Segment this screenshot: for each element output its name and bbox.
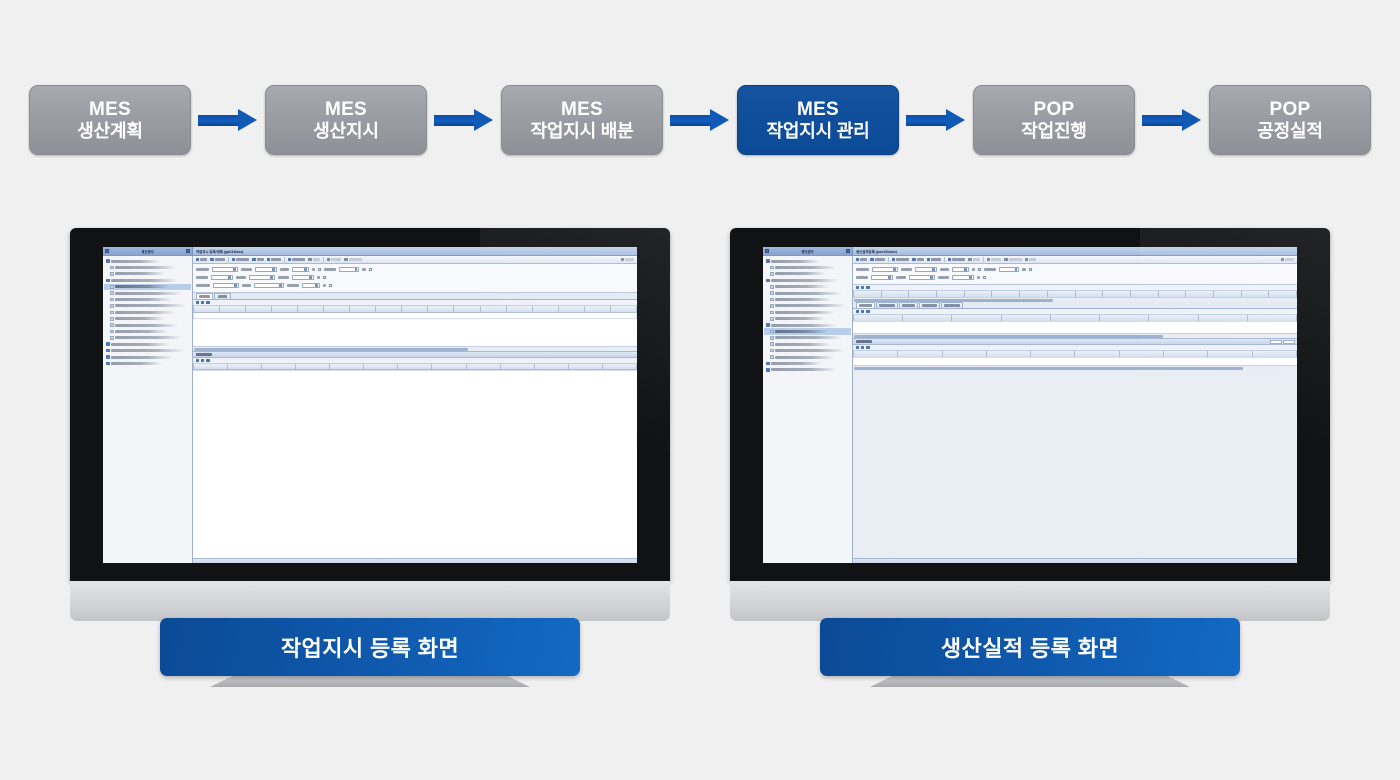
tab-label	[199, 295, 209, 298]
flow-step-3[interactable]: MES작업지시 배분	[501, 85, 663, 155]
filter-label	[972, 268, 975, 271]
filter-icon[interactable]	[866, 286, 869, 289]
chevron-down-icon[interactable]	[309, 276, 312, 279]
toolbar-button-label	[236, 258, 249, 261]
filter-label	[940, 268, 949, 271]
filter-input[interactable]	[915, 267, 937, 272]
tree-item-label	[115, 324, 178, 327]
chevron-down-icon[interactable]	[1015, 268, 1018, 271]
new-icon	[870, 258, 873, 261]
document-icon	[110, 298, 114, 302]
filter-row-1	[196, 266, 634, 273]
tree-item-label	[115, 298, 172, 301]
folder-icon	[106, 259, 110, 263]
filter-row-2	[856, 274, 1294, 281]
toolbar-button-3[interactable]	[891, 258, 910, 261]
chevron-down-icon[interactable]	[270, 276, 273, 279]
status-bar	[853, 558, 1297, 563]
tree-item-label	[771, 279, 838, 282]
toolbar-separator	[323, 257, 324, 262]
save-icon	[912, 258, 915, 261]
section-input[interactable]	[1270, 340, 1282, 344]
monitor-chin	[730, 581, 1330, 621]
toolbar-overflow[interactable]	[620, 258, 635, 261]
toolbar-button-label	[917, 258, 924, 261]
toolbar-button-label	[215, 258, 225, 261]
toolbar-separator	[228, 257, 229, 262]
toolbar-button-1[interactable]	[195, 258, 208, 261]
grid-settings-icon[interactable]	[861, 286, 864, 289]
tree-item-label	[115, 311, 175, 314]
toolbar-button-label	[271, 258, 281, 261]
navigation-tree[interactable]	[763, 256, 853, 563]
document-icon	[110, 336, 114, 340]
toolbar-overflow[interactable]	[1280, 258, 1295, 261]
filter-row-3	[196, 282, 634, 289]
toolbar-button-label	[896, 258, 909, 261]
panel-pin-icon[interactable]	[846, 249, 850, 253]
new-icon	[210, 258, 213, 261]
flow-step-line2: 생산계획	[77, 121, 142, 141]
export-excel-icon[interactable]	[856, 286, 859, 289]
filter-input[interactable]	[254, 283, 284, 288]
chevron-down-icon[interactable]	[355, 268, 358, 271]
chevron-down-icon[interactable]	[315, 284, 318, 287]
flow-step-line1: POP	[1269, 99, 1310, 120]
toolbar-button-label	[973, 258, 980, 261]
document-title: 생산실적등록 (pmr100ulsx)	[853, 247, 1297, 255]
tree-item-label	[775, 292, 842, 295]
chevron-down-icon[interactable]	[228, 276, 231, 279]
document-icon	[770, 349, 774, 353]
search-icon	[196, 258, 199, 261]
app-body	[763, 256, 1297, 563]
toolbar-button-1[interactable]	[855, 258, 868, 261]
filter-label	[896, 276, 906, 279]
tree-item-label	[115, 272, 165, 275]
toolbar-button-4[interactable]	[251, 258, 264, 261]
filter-checkbox[interactable]	[983, 276, 986, 279]
panel-pin-icon[interactable]	[186, 249, 190, 253]
export-icon	[344, 258, 347, 261]
toolbar-button-label	[331, 258, 341, 261]
toolbar-button-label	[860, 258, 867, 261]
tab-strip[interactable]	[193, 293, 637, 300]
document-icon	[110, 291, 114, 295]
filter-label	[196, 276, 208, 279]
nav-title-text: 생산관리	[771, 249, 844, 254]
filter-icon[interactable]	[866, 346, 869, 349]
filter-input[interactable]	[255, 267, 277, 272]
filter-label	[856, 268, 869, 271]
tree-item-label	[111, 343, 170, 346]
toolbar-button-label	[349, 258, 362, 261]
grid-empty-area	[193, 370, 637, 558]
app-toolbar[interactable]	[193, 256, 637, 264]
flow-step-line2: 생산지시	[313, 121, 378, 141]
folder-icon	[106, 349, 110, 353]
filter-label	[241, 268, 252, 271]
tab-3[interactable]	[899, 302, 918, 308]
grid-settings-icon[interactable]	[861, 310, 864, 313]
copy-icon	[308, 258, 311, 261]
section-title	[856, 340, 872, 343]
chevron-down-icon[interactable]	[888, 276, 891, 279]
flow-step-line1: POP	[1033, 99, 1074, 120]
flow-step-line2: 공정실적	[1257, 121, 1322, 141]
tree-item-label	[115, 304, 185, 307]
toolbar-button-3[interactable]	[231, 258, 250, 261]
toolbar-button-8[interactable]	[326, 258, 342, 261]
chevron-down-icon[interactable]	[279, 284, 282, 287]
print-icon	[927, 258, 930, 261]
grid-empty-area	[853, 357, 1297, 365]
copy-icon	[968, 258, 971, 261]
tab-2[interactable]	[876, 302, 898, 308]
tree-item-label	[771, 324, 837, 327]
filter-checkbox[interactable]	[978, 268, 981, 271]
filter-label	[236, 276, 246, 279]
tree-item-18[interactable]	[764, 367, 851, 373]
flow-arrow-icon	[666, 109, 734, 131]
chevron-down-icon[interactable]	[893, 268, 896, 271]
close-icon	[1281, 258, 1284, 261]
tree-item-label	[775, 349, 845, 352]
toolbar-button-6[interactable]	[287, 258, 306, 261]
chevron-down-icon[interactable]	[969, 276, 972, 279]
tree-item-label	[115, 292, 182, 295]
tab-4[interactable]	[919, 302, 941, 308]
toolbar-button-4[interactable]	[911, 258, 924, 261]
toolbar-button-5[interactable]	[926, 258, 942, 261]
filter-label	[984, 268, 996, 271]
filter-label	[362, 268, 366, 271]
document-icon	[770, 311, 774, 315]
toolbar-button-7[interactable]	[967, 258, 980, 261]
window-titlebar: 생산관리생산실적등록 (pmr100ulsx)	[763, 247, 1297, 256]
filter-label	[901, 268, 912, 271]
filter-label	[323, 284, 326, 287]
filter-input[interactable]	[249, 275, 275, 280]
filter-input[interactable]	[872, 267, 898, 272]
process-flow-diagram: MES생산계획MES생산지시MES작업지시 배분MES작업지시 관리POP작업진…	[0, 84, 1400, 156]
section-actions[interactable]	[1270, 340, 1297, 344]
document-icon	[110, 317, 114, 321]
filter-input[interactable]	[211, 275, 233, 280]
toolbar-button-label	[952, 258, 965, 261]
filter-label	[196, 268, 209, 271]
flow-arrow-icon	[430, 109, 498, 131]
tree-item-label	[115, 330, 168, 333]
tree-item-label	[115, 317, 164, 320]
toolbar-button-label	[625, 258, 634, 261]
filter-icon[interactable]	[206, 359, 209, 362]
document-icon	[770, 336, 774, 340]
tree-item-label	[775, 298, 832, 301]
toolbar-button-10[interactable]	[1024, 258, 1037, 261]
refresh-icon	[987, 258, 990, 261]
export-icon	[1004, 258, 1007, 261]
flow-step-1[interactable]: MES생산계획	[29, 85, 191, 155]
filter-label	[938, 276, 949, 279]
tree-item-label	[775, 266, 836, 269]
tab-1[interactable]	[856, 302, 875, 308]
tree-item-label	[111, 279, 178, 282]
toolbar-button-label	[991, 258, 1001, 261]
document-icon	[110, 311, 114, 315]
window-titlebar: 생산관리작업지시 등록/계획 (ppl115ulsx)	[103, 247, 637, 256]
app-screen[interactable]: 생산관리작업지시 등록/계획 (ppl115ulsx)	[103, 247, 637, 563]
grid-empty-area	[853, 321, 1297, 333]
tree-item-label	[775, 343, 831, 346]
filter-checkbox[interactable]	[1029, 268, 1032, 271]
tree-item-label	[771, 368, 836, 371]
toolbar-button-6[interactable]	[947, 258, 966, 261]
refresh-icon	[327, 258, 330, 261]
status-bar	[193, 558, 637, 563]
module-icon	[105, 249, 109, 253]
document-icon	[770, 266, 774, 270]
tree-item-label	[775, 317, 824, 320]
filter-label	[977, 276, 980, 279]
toolbar-button-label	[1285, 258, 1294, 261]
toolbar-button-9[interactable]	[1003, 258, 1022, 261]
delete-icon	[948, 258, 951, 261]
monitor-left: 생산관리작업지시 등록/계획 (ppl115ulsx) 작업지시 등록 화면	[70, 228, 670, 618]
filter-input[interactable]	[292, 267, 309, 272]
tab-1[interactable]	[196, 293, 213, 299]
tab-label	[879, 304, 895, 307]
document-icon	[110, 272, 114, 276]
toolbar-separator	[284, 257, 285, 262]
toolbar-separator	[888, 257, 889, 262]
grid-settings-icon[interactable]	[861, 346, 864, 349]
document-icon	[110, 266, 114, 270]
chevron-down-icon[interactable]	[964, 268, 967, 271]
export-excel-icon[interactable]	[856, 310, 859, 313]
chevron-down-icon[interactable]	[930, 276, 933, 279]
flow-arrow-icon	[194, 109, 262, 131]
monitor-caption: 작업지시 등록 화면	[160, 618, 580, 676]
tree-item-label	[115, 336, 181, 339]
monitor-right: 생산관리생산실적등록 (pmr100ulsx) 생산실적 등록 화면	[730, 228, 1330, 618]
flow-step-line2: 작업진행	[1021, 121, 1086, 141]
chevron-down-icon[interactable]	[272, 268, 275, 271]
flow-step-line2: 작업지시 배분	[531, 121, 634, 141]
chevron-down-icon[interactable]	[234, 284, 237, 287]
flow-step-2[interactable]: MES생산지시	[265, 85, 427, 155]
tab-label	[902, 304, 915, 307]
export-excel-icon[interactable]	[196, 359, 199, 362]
toolbar-button-label	[292, 258, 305, 261]
toolbar-button-label	[200, 258, 207, 261]
tree-item-label	[775, 272, 825, 275]
data-grid[interactable]	[193, 306, 637, 318]
close-icon	[621, 258, 624, 261]
toolbar-button-5[interactable]	[266, 258, 282, 261]
filter-input[interactable]	[909, 275, 935, 280]
filter-row-2	[196, 274, 634, 281]
toolbar-separator	[983, 257, 984, 262]
flow-step-5[interactable]: POP작업진행	[973, 85, 1135, 155]
filter-label	[196, 284, 210, 287]
app-toolbar[interactable]	[853, 256, 1297, 264]
filter-input[interactable]	[292, 275, 314, 280]
filter-icon[interactable]	[206, 301, 209, 304]
tab-label	[922, 304, 938, 307]
tree-item-label	[111, 356, 173, 359]
search-filter-panel[interactable]	[193, 264, 637, 293]
nav-panel-title: 생산관리	[103, 247, 193, 255]
close-icon	[1025, 258, 1028, 261]
grid-settings-icon[interactable]	[201, 301, 204, 304]
tab-strip[interactable]	[853, 302, 1297, 309]
tab-5[interactable]	[941, 302, 963, 308]
folder-icon	[106, 362, 110, 366]
flow-step-line1: MES	[325, 99, 367, 120]
flow-arrow-icon	[902, 109, 970, 131]
flow-step-line2: 작업지시 관리	[767, 121, 870, 141]
toolbar-button-label	[1009, 258, 1022, 261]
filter-input[interactable]	[952, 267, 969, 272]
section-input[interactable]	[1283, 340, 1295, 344]
tree-item-label	[775, 285, 828, 288]
search-filter-panel[interactable]	[853, 264, 1297, 285]
filter-label	[1022, 268, 1026, 271]
tree-item-label	[775, 304, 845, 307]
folder-icon	[766, 362, 770, 366]
document-icon	[770, 355, 774, 359]
grid-empty-area	[193, 318, 637, 346]
flow-step-4[interactable]: MES작업지시 관리	[737, 85, 899, 155]
print-icon	[267, 258, 270, 261]
tree-item-17[interactable]	[104, 360, 191, 366]
app-screen[interactable]: 생산관리생산실적등록 (pmr100ulsx)	[763, 247, 1297, 563]
document-icon	[110, 323, 114, 327]
chevron-down-icon[interactable]	[932, 268, 935, 271]
folder-icon	[106, 279, 110, 283]
filter-input[interactable]	[871, 275, 893, 280]
flow-step-6[interactable]: POP공정실적	[1209, 85, 1371, 155]
filter-checkbox[interactable]	[369, 268, 372, 271]
document-icon	[770, 291, 774, 295]
flow-arrow-icon	[1138, 109, 1206, 131]
filter-checkbox[interactable]	[318, 268, 321, 271]
tab-2[interactable]	[214, 293, 231, 299]
filter-input[interactable]	[999, 267, 1019, 272]
folder-icon	[106, 355, 110, 359]
chevron-down-icon[interactable]	[304, 268, 307, 271]
filter-input[interactable]	[952, 275, 974, 280]
export-excel-icon[interactable]	[856, 346, 859, 349]
folder-icon	[766, 259, 770, 263]
monitor-bezel: 생산관리작업지시 등록/계획 (ppl115ulsx)	[70, 228, 670, 581]
tree-item-label	[115, 266, 176, 269]
toolbar-button-8[interactable]	[986, 258, 1002, 261]
tree-item-label	[775, 336, 841, 339]
flow-step-line1: MES	[797, 99, 839, 120]
content-area	[853, 256, 1297, 563]
folder-icon	[106, 342, 110, 346]
filter-label	[856, 276, 868, 279]
document-icon	[770, 285, 774, 289]
monitor-caption: 생산실적 등록 화면	[820, 618, 1240, 676]
document-icon	[770, 317, 774, 321]
monitor-chin	[70, 581, 670, 621]
filter-label	[324, 268, 336, 271]
tree-item-label	[115, 285, 168, 288]
filter-label	[317, 276, 320, 279]
filter-input[interactable]	[339, 267, 359, 272]
document-icon	[770, 298, 774, 302]
filter-label	[280, 268, 289, 271]
toolbar-button-label	[313, 258, 320, 261]
flow-step-line1: MES	[561, 99, 603, 120]
filter-label	[242, 284, 251, 287]
toolbar-button-label	[1029, 258, 1036, 261]
toolbar-button-label	[257, 258, 264, 261]
document-icon	[770, 342, 774, 346]
filter-checkbox[interactable]	[323, 276, 326, 279]
toolbar-button-9[interactable]	[343, 258, 362, 261]
nav-title-text: 생산관리	[111, 249, 184, 254]
flow-step-line1: MES	[89, 99, 131, 120]
toolbar-button-2[interactable]	[209, 258, 225, 261]
section-title	[196, 353, 212, 356]
tree-item-label	[775, 356, 834, 359]
toolbar-button-label	[875, 258, 885, 261]
tree-item-label	[111, 362, 162, 365]
folder-icon	[766, 323, 770, 327]
add-icon	[232, 258, 235, 261]
tree-item-label	[775, 330, 828, 333]
document-icon	[110, 304, 114, 308]
module-icon	[765, 249, 769, 253]
filter-input[interactable]	[302, 283, 320, 288]
folder-icon	[766, 368, 770, 372]
app-body	[103, 256, 637, 563]
toolbar-button-label	[931, 258, 941, 261]
summary-area	[853, 370, 1297, 558]
chevron-down-icon[interactable]	[233, 268, 236, 271]
tree-item-label	[771, 260, 820, 263]
search-icon	[856, 258, 859, 261]
tree-item-label	[111, 349, 184, 352]
tree-item-label	[111, 260, 160, 263]
export-excel-icon[interactable]	[196, 301, 199, 304]
filter-label	[278, 276, 289, 279]
grid-table	[193, 306, 637, 318]
toolbar-separator	[944, 257, 945, 262]
toolbar-button-2[interactable]	[869, 258, 885, 261]
tree-item-label	[771, 362, 822, 365]
document-icon	[110, 285, 114, 289]
tree-item-label	[775, 311, 835, 314]
filter-label	[287, 284, 299, 287]
filter-checkbox[interactable]	[329, 284, 332, 287]
tab-label	[859, 304, 872, 307]
navigation-tree[interactable]	[103, 256, 193, 563]
document-icon	[110, 330, 114, 334]
document-icon	[770, 304, 774, 308]
filter-icon[interactable]	[866, 310, 869, 313]
grid-settings-icon[interactable]	[201, 359, 204, 362]
toolbar-button-7[interactable]	[307, 258, 320, 261]
tab-label	[218, 295, 227, 298]
nav-panel-title: 생산관리	[763, 247, 853, 255]
filter-input[interactable]	[213, 283, 239, 288]
filter-input[interactable]	[212, 267, 238, 272]
